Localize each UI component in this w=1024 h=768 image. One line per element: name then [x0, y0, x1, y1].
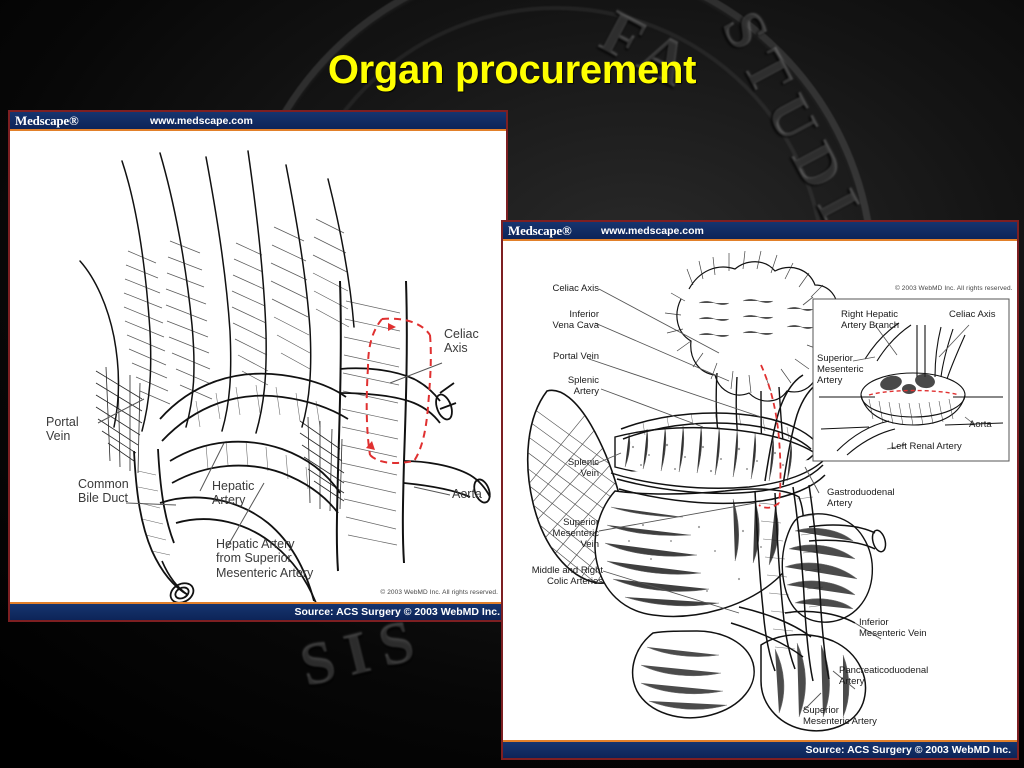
copyright-left: © 2003 WebMD Inc. All rights reserved.: [380, 589, 498, 596]
label-inset-superior-mesenteric-artery: Superior Mesenteric Artery: [817, 353, 863, 387]
medscape-logo: Medscape®: [10, 113, 79, 129]
label-splenic-artery: Splenic Artery: [507, 375, 599, 397]
illustration-left: Portal Vein Common Bile Duct Hepatic Art…: [10, 131, 506, 602]
medscape-url: www.medscape.com: [601, 225, 704, 237]
medscape-header-bar-right: Medscape® www.medscape.com: [503, 222, 1017, 241]
label-hepatic-artery: Hepatic Artery: [212, 479, 254, 508]
medscape-figure-right: Medscape® www.medscape.com: [501, 220, 1019, 760]
label-common-bile-duct: Common Bile Duct: [78, 477, 129, 506]
source-credit-left: Source: ACS Surgery © 2003 WebMD Inc.: [294, 606, 506, 618]
label-portal-vein-left: Portal Vein: [46, 415, 79, 444]
label-superior-mesenteric-artery: Superior Mesenteric Artery: [803, 705, 877, 727]
medscape-logo: Medscape®: [503, 223, 572, 239]
label-inset-right-hepatic-artery-branch: Right Hepatic Artery Branch: [841, 309, 899, 331]
copyright-right: © 2003 WebMD Inc. All rights reserved.: [895, 285, 1013, 292]
label-inset-left-renal-artery: Left Renal Artery: [891, 441, 962, 452]
label-celiac-axis-left: Celiac Axis: [444, 327, 479, 356]
label-hepatic-artery-sma: Hepatic Artery from Superior Mesenteric …: [216, 537, 313, 580]
label-portal-vein-right: Portal Vein: [507, 351, 599, 362]
label-inset-celiac-axis: Celiac Axis: [949, 309, 995, 320]
label-gastroduodenal-artery: Gastroduodenal Artery: [827, 487, 895, 509]
medscape-figure-left: Medscape® www.medscape.com: [8, 110, 508, 622]
label-inferior-mesenteric-vein: Inferior Mesenteric Vein: [859, 617, 927, 639]
label-inferior-vena-cava: Inferior Vena Cava: [507, 309, 599, 331]
medscape-footer-bar-right: Source: ACS Surgery © 2003 WebMD Inc.: [503, 740, 1017, 758]
source-credit-right: Source: ACS Surgery © 2003 WebMD Inc.: [805, 744, 1017, 756]
label-colic-arteries: Middle and Right Colic Arteries: [503, 565, 603, 587]
slide-title: Organ procurement: [0, 48, 1024, 93]
medscape-url: www.medscape.com: [150, 115, 253, 127]
leader-lines-left: [10, 131, 506, 602]
label-celiac-axis-right: Celiac Axis: [507, 283, 599, 294]
label-aorta-left: Aorta: [452, 487, 482, 501]
medscape-header-bar-left: Medscape® www.medscape.com: [10, 112, 506, 131]
illustration-right: Celiac Axis Inferior Vena Cava Portal Ve…: [503, 241, 1017, 740]
medscape-footer-bar-left: Source: ACS Surgery © 2003 WebMD Inc.: [10, 602, 506, 620]
label-pancreaticoduodenal-artery: Pancreaticoduodenal Artery: [839, 665, 928, 687]
label-superior-mesenteric-vein: Superior Mesenteric Vein: [507, 517, 599, 551]
label-inset-aorta: Aorta: [969, 419, 992, 430]
label-splenic-vein: Splenic Vein: [507, 457, 599, 479]
